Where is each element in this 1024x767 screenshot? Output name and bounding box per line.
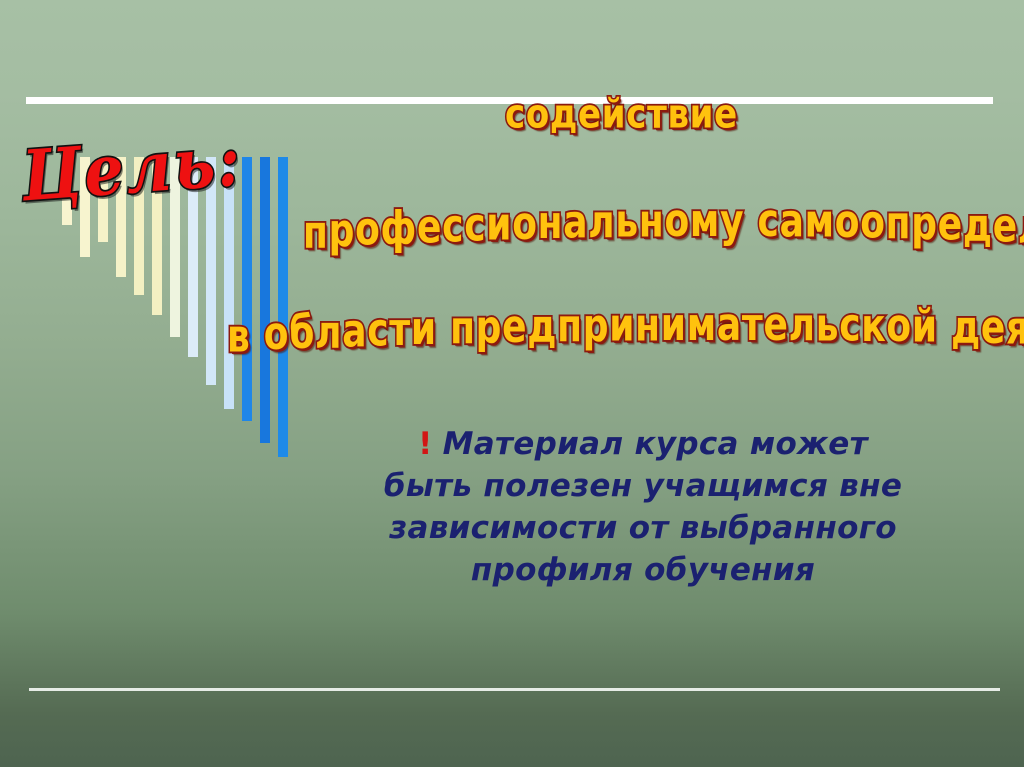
wordart-char: м <box>687 300 717 351</box>
wordart-char: р <box>476 302 503 353</box>
wordart-char: я <box>1006 304 1024 355</box>
wordart-char: м <box>805 197 835 248</box>
wordart-char <box>744 196 757 247</box>
wordart-char: у <box>720 196 744 247</box>
wordart-char: б <box>289 308 315 359</box>
wordart-char: п <box>303 207 329 258</box>
wordart-char: р <box>911 199 938 250</box>
wordart-char: а <box>342 306 367 357</box>
bottom-divider-rule <box>29 688 1000 691</box>
wordart-char: о <box>886 301 911 352</box>
wordart-char: е <box>502 302 527 353</box>
presentation-slide: содействие профессиональному самоопредел… <box>0 0 1024 767</box>
wordart-char: п <box>886 198 912 249</box>
wordart-char: с <box>839 301 861 352</box>
wordart-char: а <box>780 196 805 247</box>
wordart-char: и <box>661 300 687 351</box>
wordart-char: й <box>912 302 938 353</box>
wordart-line-2: профессиональному самоопределению <box>303 196 1024 247</box>
note-block: !Материал курса может быть полезен учащи… <box>360 423 926 592</box>
wordart-char: о <box>512 199 537 250</box>
wordart-char: н <box>635 300 661 351</box>
wordart-char: т <box>742 300 764 351</box>
wordart-char: е <box>417 202 442 253</box>
wordart-char: с <box>464 200 486 251</box>
wordart-char: д <box>963 200 993 251</box>
wordart-char: о <box>264 309 289 360</box>
wordart-char <box>437 304 450 355</box>
wordart-char: е <box>938 200 963 251</box>
wordart-char: т <box>389 305 411 356</box>
wordart-line-3: в области предпринимательской деятельнос… <box>227 300 1024 351</box>
wordart-char: в <box>227 311 251 362</box>
slide-heading-goal: Цель: <box>19 126 244 211</box>
wordart-char: к <box>861 301 886 352</box>
wordart-char: л <box>1018 202 1024 253</box>
wordart-char: ф <box>381 203 417 254</box>
wordart-char: е <box>981 303 1006 354</box>
note-line-3: зависимости от выбранного <box>360 507 926 549</box>
wordart-char: л <box>789 300 816 351</box>
wordart-char <box>251 310 264 361</box>
wordart-char: п <box>450 303 476 354</box>
wordart-char: о <box>860 198 885 249</box>
wordart-char: а <box>563 198 588 249</box>
wordart-char: с <box>758 196 780 247</box>
wordart-line-1: содействие <box>505 91 738 138</box>
wordart-char: м <box>690 196 720 247</box>
wordart-char: е <box>763 300 788 351</box>
wordart-char <box>938 302 951 353</box>
wordart-char: и <box>411 304 437 355</box>
wordart-char: о <box>835 197 860 248</box>
wordart-char: о <box>355 205 380 256</box>
wordart-char: ь <box>816 300 839 351</box>
wordart-char: д <box>951 302 981 353</box>
wordart-char: н <box>538 198 564 249</box>
wordart-char: л <box>315 307 342 358</box>
note-line-2: быть полезен учащимся вне <box>360 465 926 507</box>
wordart-char: и <box>609 301 635 352</box>
wordart-char: н <box>639 196 665 247</box>
wordart-char: с <box>442 201 464 252</box>
wordart-char: е <box>993 201 1018 252</box>
wordart-char: п <box>557 301 583 352</box>
wordart-char: д <box>527 302 557 353</box>
wordart-char: ь <box>615 197 638 248</box>
wordart-char: р <box>583 301 610 352</box>
note-line-1: Материал курса может <box>443 426 868 462</box>
wordart-char: а <box>717 300 742 351</box>
wordart-char: л <box>588 197 615 248</box>
wordart-char: и <box>486 200 512 251</box>
wordart-char: с <box>367 306 389 357</box>
note-line-4: профиля обучения <box>360 549 926 591</box>
wordart-char: о <box>664 196 689 247</box>
wordart-char: р <box>329 206 356 257</box>
exclamation-marker: ! <box>418 426 432 462</box>
